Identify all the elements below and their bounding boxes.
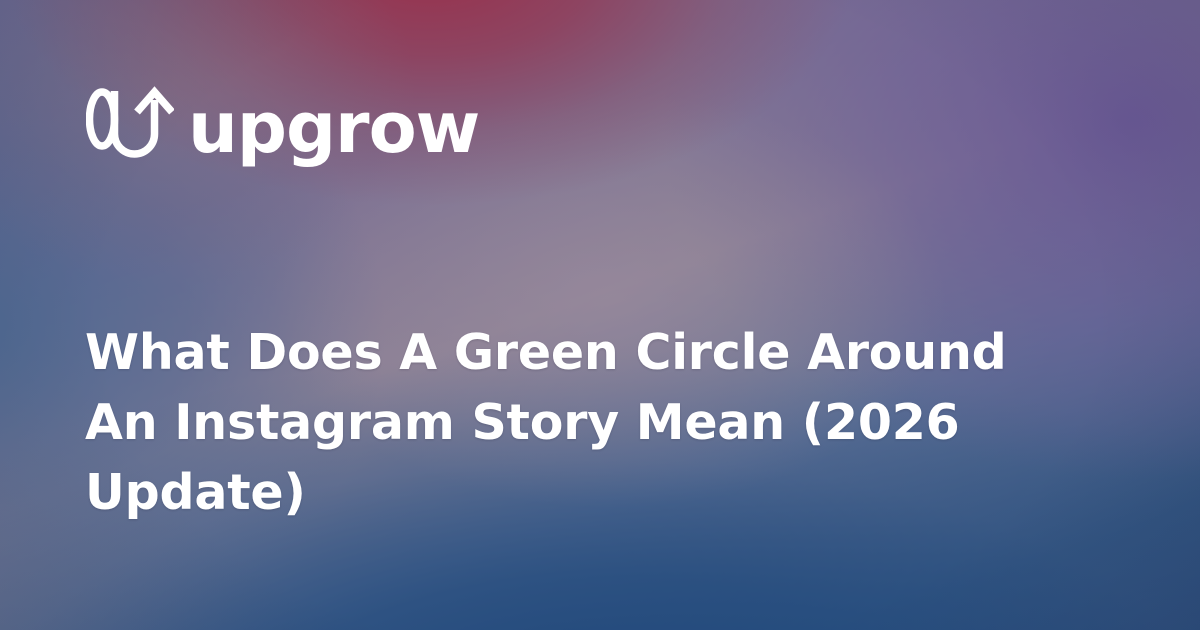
brand-lockup: upgrow [86, 86, 479, 166]
social-share-card: upgrow What Does A Green Circle Around A… [0, 0, 1200, 630]
card-content: upgrow What Does A Green Circle Around A… [0, 0, 1200, 630]
brand-wordmark: upgrow [188, 93, 479, 163]
page-title: What Does A Green Circle Around An Insta… [85, 318, 1085, 528]
upgrow-arrow-logo-icon [86, 86, 174, 166]
